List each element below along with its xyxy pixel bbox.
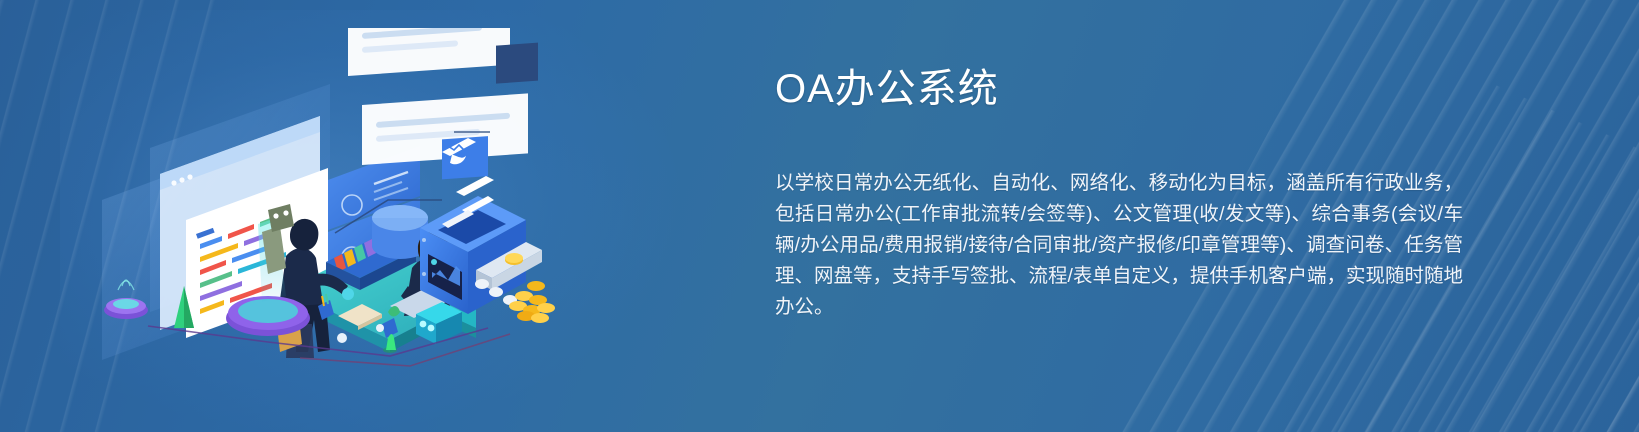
page-title: OA办公系统: [775, 62, 1475, 116]
banner-description: 以学校日常办公无纸化、自动化、网络化、移动化为目标，涵盖所有行政业务，包括日常办…: [775, 168, 1463, 323]
banner-copy: OA办公系统 以学校日常办公无纸化、自动化、网络化、移动化为目标，涵盖所有行政业…: [775, 62, 1475, 323]
oa-system-banner: OA办公系统 以学校日常办公无纸化、自动化、网络化、移动化为目标，涵盖所有行政业…: [0, 0, 1639, 432]
isometric-office-illustration: [90, 28, 560, 368]
dark-badge-card: [496, 43, 538, 84]
